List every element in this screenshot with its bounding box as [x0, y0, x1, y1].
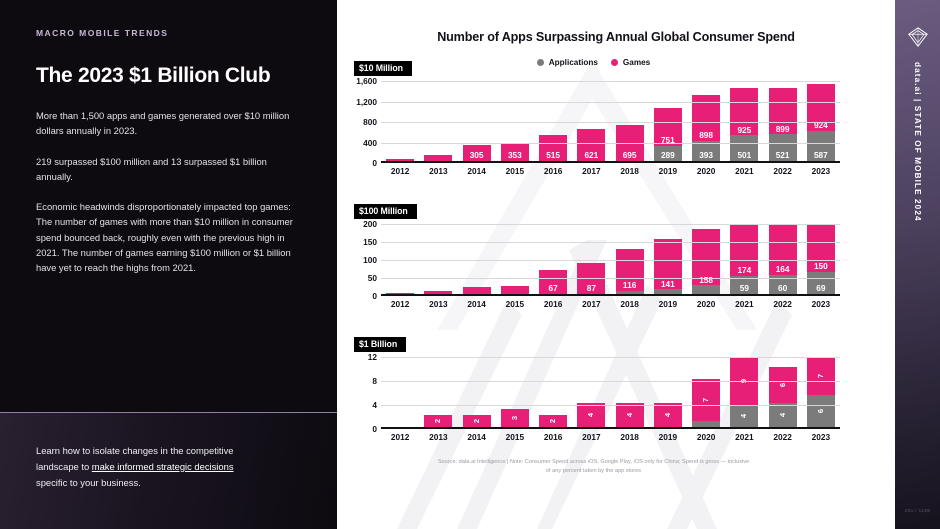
- chart-band-label: $100 Million: [354, 204, 417, 220]
- bar-segment-games[interactable]: 3: [501, 409, 529, 427]
- gridline: [381, 224, 840, 225]
- bar-value-label: 150: [807, 262, 835, 270]
- bar-column[interactable]: 305: [463, 81, 491, 161]
- legend-item-applications: Applications: [537, 58, 598, 67]
- bar-segment-games[interactable]: [386, 159, 414, 161]
- y-tick-label: 1,600: [356, 76, 377, 86]
- bar-column[interactable]: 925501: [730, 81, 758, 161]
- chart-band-label: $1 Billion: [354, 337, 406, 353]
- chart-block-100-million: $100 Million 050100150200 67871161411581…: [347, 201, 840, 309]
- x-tick-label: 2015: [501, 299, 529, 309]
- x-tick-label: 2018: [616, 432, 644, 442]
- bar-segment-applications[interactable]: 521: [769, 134, 797, 161]
- bar-value-label: 621: [577, 151, 605, 159]
- bar-segment-applications[interactable]: 501: [730, 135, 758, 161]
- cta-text-after: specific to your business.: [36, 477, 141, 488]
- bar-value-label: 515: [539, 151, 567, 159]
- bar-segment-games[interactable]: 2: [424, 415, 452, 427]
- plot-area-100-million: 6787116141158174591646015069: [381, 224, 840, 296]
- x-axis-10-million: 2012201320142015201620172018201920202021…: [381, 166, 840, 176]
- bars-100-million: 6787116141158174591646015069: [381, 224, 840, 294]
- body-paragraph-1: More than 1,500 apps and games generated…: [36, 108, 301, 138]
- x-tick-label: 2017: [577, 432, 605, 442]
- x-axis-100-million: 2012201320142015201620172018201920202021…: [381, 299, 840, 309]
- x-tick-label: 2017: [577, 166, 605, 176]
- x-tick-label: 2012: [386, 432, 414, 442]
- data-ai-diamond-logo-icon: [907, 26, 929, 48]
- bar-column[interactable]: 4: [577, 357, 605, 427]
- y-axis-1-billion: 04812: [347, 357, 381, 429]
- bar-value-label: 60: [769, 284, 797, 292]
- chart-title: Number of Apps Surpassing Annual Global …: [337, 0, 895, 44]
- bar-column[interactable]: [501, 224, 529, 294]
- bar-segment-games[interactable]: 899: [769, 88, 797, 134]
- gridline: [381, 102, 840, 103]
- bar-segment-games[interactable]: 141: [654, 239, 682, 290]
- bar-value-label: 6: [817, 397, 825, 425]
- bar-column[interactable]: 15069: [807, 224, 835, 294]
- slide-page: MACRO MOBILE TRENDS The 2023 $1 Billion …: [0, 0, 940, 529]
- bars-10-million: 3053535156216957512898983939255018995219…: [381, 81, 840, 161]
- legend-dot-games-icon: [611, 59, 619, 67]
- bar-column[interactable]: 94: [730, 357, 758, 427]
- x-tick-label: 2019: [654, 299, 682, 309]
- cta-link[interactable]: make informed strategic decisions: [92, 461, 234, 472]
- y-tick-label: 0: [372, 424, 377, 434]
- chart-legend: Applications Games: [347, 58, 840, 67]
- bar-segment-games[interactable]: 4: [577, 403, 605, 427]
- bar-value-label: 59: [730, 284, 758, 292]
- gridline: [381, 405, 840, 406]
- bar-value-label: 289: [654, 151, 682, 159]
- x-tick-label: 2020: [692, 166, 720, 176]
- bar-value-label: 69: [807, 284, 835, 292]
- bar-column[interactable]: 2: [424, 357, 452, 427]
- bar-value-label: 2: [435, 407, 443, 435]
- body-paragraph-3: Economic headwinds disproportionately im…: [36, 199, 301, 275]
- gridline: [381, 143, 840, 144]
- bar-column[interactable]: 87: [577, 224, 605, 294]
- bar-column[interactable]: [386, 224, 414, 294]
- section-eyebrow: MACRO MOBILE TRENDS: [36, 28, 301, 38]
- x-tick-label: 2018: [616, 299, 644, 309]
- x-tick-label: 2014: [463, 166, 491, 176]
- bar-column[interactable]: 621: [577, 81, 605, 161]
- x-tick-label: 2020: [692, 299, 720, 309]
- bar-column[interactable]: 158: [692, 224, 720, 294]
- x-tick-label: 2023: [807, 432, 835, 442]
- bar-column[interactable]: 898393: [692, 81, 720, 161]
- bar-value-label: 899: [769, 125, 797, 133]
- bar-column[interactable]: 3: [501, 357, 529, 427]
- chart-band-label: $10 Million: [354, 61, 412, 77]
- y-tick-label: 0: [372, 291, 377, 301]
- bar-column[interactable]: 64: [769, 357, 797, 427]
- x-tick-label: 2023: [807, 166, 835, 176]
- bar-segment-games[interactable]: 353: [501, 143, 529, 161]
- bar-value-label: 393: [692, 151, 720, 159]
- x-tick-label: 2014: [463, 299, 491, 309]
- bar-value-label: 4: [741, 402, 749, 430]
- plot-area-10-million: 3053535156216957512898983939255018995219…: [381, 81, 840, 163]
- y-tick-label: 50: [368, 273, 377, 283]
- gridline: [381, 278, 840, 279]
- y-tick-label: 100: [363, 255, 377, 265]
- bar-column[interactable]: 4: [616, 357, 644, 427]
- x-tick-label: 2019: [654, 166, 682, 176]
- x-tick-label: 2017: [577, 299, 605, 309]
- right-rail: data.ai | STATE OF MOBILE 2024 251 / 116…: [895, 0, 940, 529]
- bar-segment-games[interactable]: 116: [616, 249, 644, 291]
- plot-area-1-billion: 22324447946476: [381, 357, 840, 429]
- bar-segment-applications[interactable]: 69: [807, 272, 835, 294]
- bar-value-label: 116: [616, 281, 644, 289]
- bar-column[interactable]: [386, 357, 414, 427]
- page-number: 251 / 1168: [905, 508, 930, 513]
- legend-label-games: Games: [623, 58, 650, 67]
- bar-segment-games[interactable]: 6: [769, 367, 797, 403]
- body-paragraph-2: 219 surpassed $100 million and 13 surpas…: [36, 154, 301, 184]
- legend-dot-applications-icon: [537, 59, 545, 67]
- legend-item-games: Games: [611, 58, 650, 67]
- x-tick-label: 2016: [539, 166, 567, 176]
- rail-brand-label: data.ai | STATE OF MOBILE 2024: [913, 62, 922, 222]
- x-tick-label: 2021: [730, 166, 758, 176]
- x-tick-label: 2013: [424, 299, 452, 309]
- left-panel: MACRO MOBILE TRENDS The 2023 $1 Billion …: [0, 0, 337, 529]
- bar-column[interactable]: 751289: [654, 81, 682, 161]
- bar-segment-games[interactable]: 2: [539, 415, 567, 427]
- bar-segment-games[interactable]: 164: [769, 224, 797, 275]
- y-tick-label: 4: [372, 400, 377, 410]
- bar-value-label: 587: [807, 151, 835, 159]
- bar-value-label: 3: [511, 404, 519, 432]
- bar-segment-games[interactable]: 67: [539, 270, 567, 294]
- x-tick-label: 2022: [769, 299, 797, 309]
- x-tick-label: 2020: [692, 432, 720, 442]
- bar-value-label: 7: [702, 386, 710, 414]
- bar-segment-games[interactable]: 158: [692, 229, 720, 286]
- gridline: [381, 381, 840, 382]
- x-tick-label: 2019: [654, 432, 682, 442]
- bar-column[interactable]: 899521: [769, 81, 797, 161]
- bar-segment-games[interactable]: [424, 291, 452, 294]
- bar-column[interactable]: 141: [654, 224, 682, 294]
- bar-value-label: 164: [769, 265, 797, 273]
- bar-column[interactable]: 7: [692, 357, 720, 427]
- gridline: [381, 260, 840, 261]
- gridline: [381, 81, 840, 82]
- bar-segment-games[interactable]: [463, 287, 491, 294]
- bar-column[interactable]: 515: [539, 81, 567, 161]
- x-tick-label: 2015: [501, 166, 529, 176]
- bar-segment-games[interactable]: [424, 155, 452, 161]
- x-tick-label: 2015: [501, 432, 529, 442]
- y-tick-label: 400: [363, 138, 377, 148]
- bar-segment-applications[interactable]: 4: [769, 403, 797, 427]
- bar-segment-games[interactable]: 751: [654, 108, 682, 146]
- bar-value-label: 67: [539, 284, 567, 292]
- x-tick-label: 2023: [807, 299, 835, 309]
- bar-value-label: 898: [692, 131, 720, 139]
- bar-column[interactable]: [386, 81, 414, 161]
- y-tick-label: 0: [372, 158, 377, 168]
- bar-column[interactable]: 76: [807, 357, 835, 427]
- y-axis-100-million: 050100150200: [347, 224, 381, 296]
- bar-column[interactable]: 67: [539, 224, 567, 294]
- bar-value-label: 141: [654, 280, 682, 288]
- bar-value-label: 7: [817, 362, 825, 390]
- bar-segment-games[interactable]: 2: [463, 415, 491, 427]
- bar-column[interactable]: [463, 224, 491, 294]
- bar-column[interactable]: [424, 81, 452, 161]
- bar-segment-games[interactable]: 4: [654, 403, 682, 427]
- bar-column[interactable]: 116: [616, 224, 644, 294]
- bar-column[interactable]: 2: [539, 357, 567, 427]
- bar-value-label: 87: [577, 284, 605, 292]
- bar-segment-games[interactable]: 7: [692, 379, 720, 421]
- bar-segment-games[interactable]: [386, 293, 414, 294]
- cta-callout: Learn how to isolate changes in the comp…: [0, 412, 337, 529]
- cta-text: Learn how to isolate changes in the comp…: [0, 413, 300, 490]
- bar-value-label: 695: [616, 151, 644, 159]
- x-tick-label: 2021: [730, 432, 758, 442]
- bar-column[interactable]: 17459: [730, 224, 758, 294]
- bar-value-label: 6: [779, 371, 787, 399]
- x-tick-label: 2021: [730, 299, 758, 309]
- bar-segment-games[interactable]: [501, 286, 529, 294]
- bar-segment-applications[interactable]: 587: [807, 131, 835, 161]
- bar-value-label: 501: [730, 151, 758, 159]
- bar-value-label: 305: [463, 151, 491, 159]
- x-tick-label: 2022: [769, 166, 797, 176]
- bar-column[interactable]: 4: [654, 357, 682, 427]
- bar-segment-games[interactable]: 150: [807, 224, 835, 272]
- bar-value-label: 521: [769, 151, 797, 159]
- gridline: [381, 242, 840, 243]
- x-tick-label: 2012: [386, 166, 414, 176]
- chart-block-1-billion: $1 Billion 04812 22324447946476 20122013…: [347, 334, 840, 442]
- bar-segment-games[interactable]: 305: [463, 145, 491, 161]
- bar-segment-games[interactable]: 7: [807, 357, 835, 395]
- bar-column[interactable]: 16460: [769, 224, 797, 294]
- gridline: [381, 122, 840, 123]
- source-note: Source: data.ai Intelligence | Note: Con…: [347, 458, 840, 476]
- bar-segment-applications[interactable]: 393: [692, 141, 720, 161]
- bar-segment-games[interactable]: 924: [807, 84, 835, 131]
- y-tick-label: 1,200: [356, 97, 377, 107]
- x-tick-label: 2012: [386, 299, 414, 309]
- bar-column[interactable]: 695: [616, 81, 644, 161]
- bar-column[interactable]: [424, 224, 452, 294]
- x-tick-label: 2013: [424, 166, 452, 176]
- bar-value-label: 353: [501, 151, 529, 159]
- gridline: [381, 357, 840, 358]
- charts-container: $10 Million Applications Games 04008001,…: [337, 58, 895, 476]
- bar-segment-applications[interactable]: 6: [807, 395, 835, 427]
- x-tick-label: 2018: [616, 166, 644, 176]
- y-tick-label: 12: [368, 352, 377, 362]
- bar-column[interactable]: 924587: [807, 81, 835, 161]
- bar-segment-applications[interactable]: 289: [654, 146, 682, 161]
- bar-column[interactable]: 2: [463, 357, 491, 427]
- y-tick-label: 200: [363, 219, 377, 229]
- y-axis-10-million: 04008001,2001,600: [347, 81, 381, 163]
- page-title: The 2023 $1 Billion Club: [36, 64, 301, 88]
- bar-segment-applications[interactable]: 4: [730, 405, 758, 427]
- y-tick-label: 150: [363, 237, 377, 247]
- chart-panel: Number of Apps Surpassing Annual Global …: [337, 0, 895, 529]
- bar-value-label: 2: [549, 407, 557, 435]
- bar-segment-games[interactable]: 621: [577, 129, 605, 161]
- bar-value-label: 925: [730, 126, 758, 134]
- legend-label-applications: Applications: [549, 58, 598, 67]
- bar-column[interactable]: 353: [501, 81, 529, 161]
- y-tick-label: 8: [372, 376, 377, 386]
- bar-segment-applications[interactable]: [654, 289, 682, 294]
- bar-segment-applications[interactable]: [692, 421, 720, 427]
- bar-value-label: 2: [473, 407, 481, 435]
- x-axis-1-billion: 2012201320142015201620172018201920202021…: [381, 432, 840, 442]
- x-tick-label: 2016: [539, 299, 567, 309]
- chart-block-10-million: $10 Million Applications Games 04008001,…: [347, 58, 840, 176]
- bar-segment-games[interactable]: 4: [616, 403, 644, 427]
- bar-segment-applications[interactable]: [616, 291, 644, 294]
- y-tick-label: 800: [363, 117, 377, 127]
- x-tick-label: 2022: [769, 432, 797, 442]
- bar-segment-games[interactable]: 925: [730, 88, 758, 135]
- bar-value-label: 158: [692, 276, 720, 284]
- bar-segment-games[interactable]: 174: [730, 224, 758, 276]
- bars-1-billion: 22324447946476: [381, 357, 840, 427]
- bar-value-label: 174: [730, 266, 758, 274]
- bar-segment-applications[interactable]: [692, 285, 720, 294]
- bar-segment-games[interactable]: 515: [539, 135, 567, 161]
